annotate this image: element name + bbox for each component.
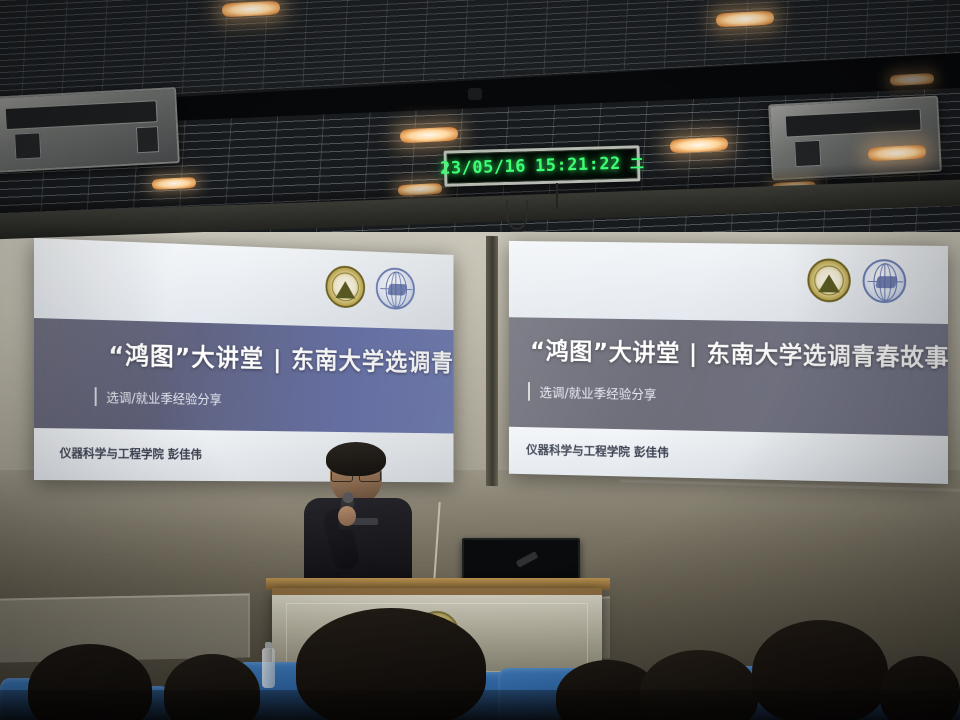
right-projection-screen: “鸿图”大讲堂 | 东南大学选调青春故事汇 选调/就业季经验分享 仪器科学与工程… <box>509 241 948 484</box>
globe-core-mark <box>387 284 407 296</box>
clock-time: 15:21:22 <box>535 154 621 176</box>
seu-seal-logo-icon <box>807 258 850 302</box>
globe-institute-logo-icon <box>863 259 907 303</box>
confidence-monitor <box>462 538 580 582</box>
projector-mount-icon <box>506 200 528 230</box>
ac-vent-flap <box>794 140 821 167</box>
slide-subtitle: 选调/就业季经验分享 <box>95 387 222 408</box>
globe-core-mark <box>875 276 897 288</box>
screen-divider <box>486 236 498 486</box>
ac-slot <box>785 109 922 138</box>
monitor-reflection <box>516 551 539 568</box>
slide-subtitle: 选调/就业季经验分享 <box>528 382 656 403</box>
clock-wire <box>556 183 558 209</box>
ceiling-light <box>152 177 197 190</box>
slide-logo-group <box>807 258 906 303</box>
slide-footer: 仪器科学与工程学院 彭佳伟 <box>60 444 202 462</box>
presenter-at-podium <box>296 446 418 596</box>
ac-vent-flap <box>14 132 41 159</box>
seu-seal-logo-icon <box>325 265 365 308</box>
globe-institute-logo-icon <box>376 267 415 310</box>
ac-vent-flap-secondary <box>136 126 159 153</box>
ac-vent-unit-left <box>0 87 180 173</box>
ceiling-light <box>890 73 935 86</box>
led-clock-screen: 23/05/16 15:21:22 二 <box>447 148 638 183</box>
clock-date: 23/05/16 <box>440 156 526 178</box>
seal-triangle <box>335 281 355 299</box>
clock-day-of-week: 二 <box>630 153 645 173</box>
led-clock-display: 23/05/16 15:21:22 二 <box>444 145 641 186</box>
slide-logo-group <box>325 265 414 310</box>
presenter-hand <box>338 506 356 526</box>
slide-footer: 仪器科学与工程学院 彭佳伟 <box>526 441 669 461</box>
lecture-hall-photo: 23/05/16 15:21:22 二 “鸿图”大讲堂 | 东南大学选调青春故事… <box>0 0 960 720</box>
glasses-icon <box>330 470 382 480</box>
foreground-shadow <box>0 690 960 720</box>
ac-slot <box>5 100 158 130</box>
ceiling-camera-icon <box>468 88 482 100</box>
water-bottle <box>262 648 275 688</box>
seal-triangle <box>818 274 840 292</box>
